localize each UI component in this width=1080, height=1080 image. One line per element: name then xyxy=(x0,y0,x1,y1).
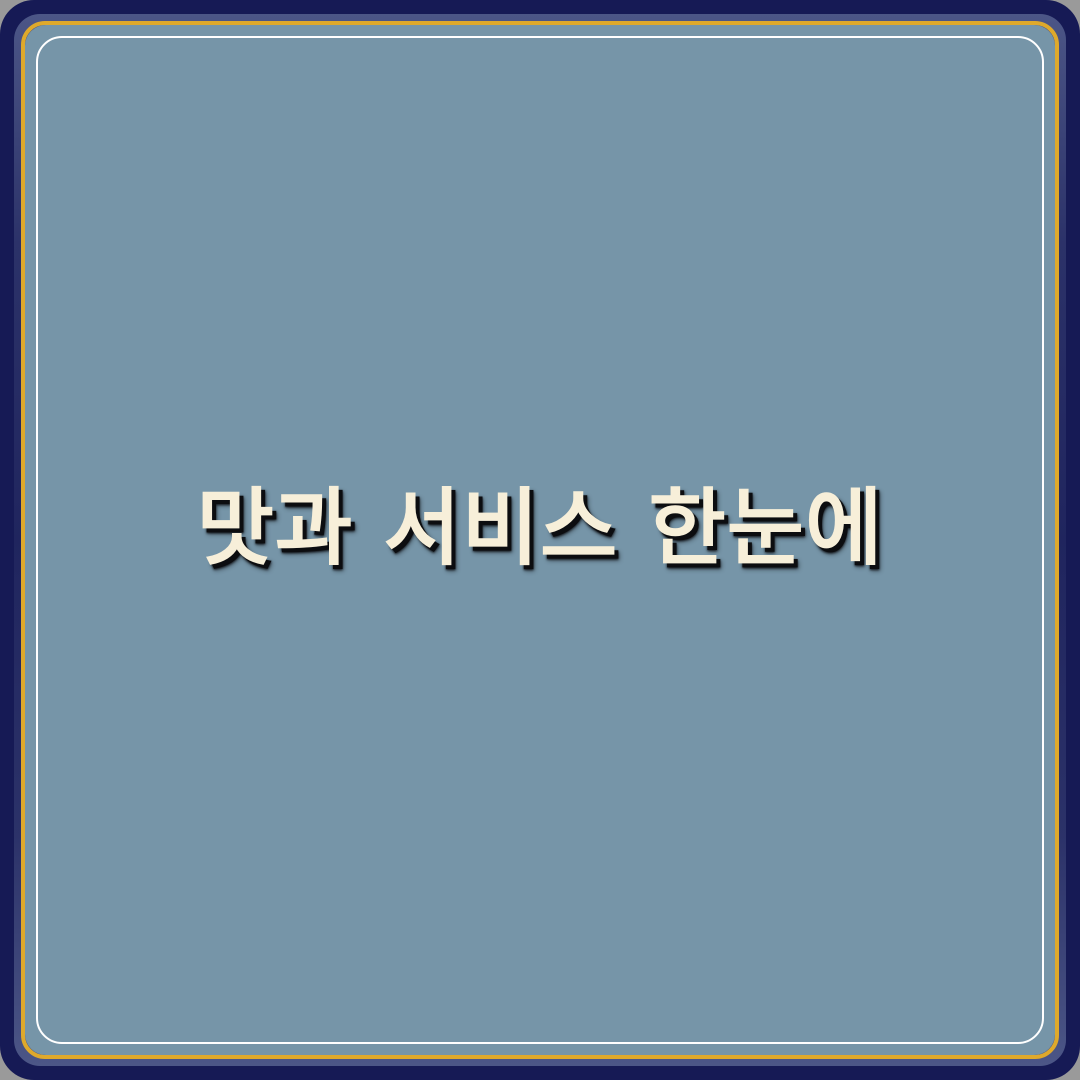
headline-container: 맛과 서비스 한눈에 xyxy=(36,0,1044,1080)
poster-canvas: 맛과 서비스 한눈에 xyxy=(0,0,1080,1080)
poster-headline: 맛과 서비스 한눈에 xyxy=(197,482,884,598)
